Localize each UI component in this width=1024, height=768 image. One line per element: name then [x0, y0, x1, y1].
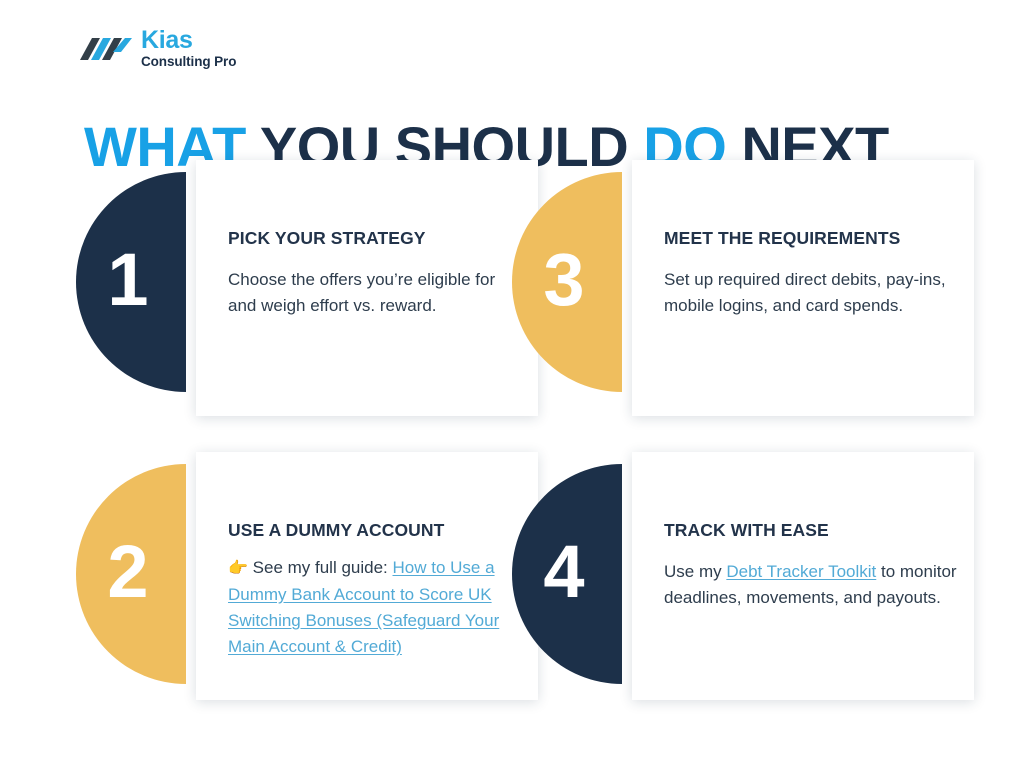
brand-name-secondary: Consulting Pro: [141, 55, 236, 69]
step-content-1: PICK YOUR STRATEGY Choose the offers you…: [228, 228, 518, 320]
step-body-3: Set up required direct debits, pay-ins, …: [664, 267, 964, 320]
step-content-3: MEET THE REQUIREMENTS Set up required di…: [664, 228, 964, 320]
step-content-2: USE A DUMMY ACCOUNT 👉 See my full guide:…: [228, 520, 518, 661]
step-badge-2: 2: [76, 464, 186, 684]
step-badge-1: 1: [76, 172, 186, 392]
pointing-finger-icon: 👉: [228, 560, 248, 577]
step-heading-2: USE A DUMMY ACCOUNT: [228, 520, 518, 541]
debt-tracker-toolkit-link[interactable]: Debt Tracker Toolkit: [726, 562, 876, 581]
step-heading-1: PICK YOUR STRATEGY: [228, 228, 518, 249]
step-number-2: 2: [107, 535, 154, 613]
step-heading-3: MEET THE REQUIREMENTS: [664, 228, 964, 249]
step-body-2: 👉 See my full guide: How to Use a Dummy …: [228, 555, 518, 661]
brand-wordmark: Kias Consulting Pro: [141, 28, 236, 69]
brand-logo: Kias Consulting Pro: [80, 28, 236, 69]
brand-name-primary: Kias: [141, 28, 236, 53]
step-heading-4: TRACK WITH EASE: [664, 520, 964, 541]
step-content-4: TRACK WITH EASE Use my Debt Tracker Tool…: [664, 520, 964, 612]
step-body-4-prefix: Use my: [664, 562, 726, 581]
step-number-1: 1: [107, 243, 154, 321]
step-number-4: 4: [543, 535, 590, 613]
step-body-1: Choose the offers you’re eligible for an…: [228, 267, 518, 320]
step-number-3: 3: [543, 243, 590, 321]
step-body-2-prefix: See my full guide:: [248, 558, 393, 577]
kias-slash-mark-icon: [80, 30, 132, 66]
step-body-4: Use my Debt Tracker Toolkit to monitor d…: [664, 559, 964, 612]
